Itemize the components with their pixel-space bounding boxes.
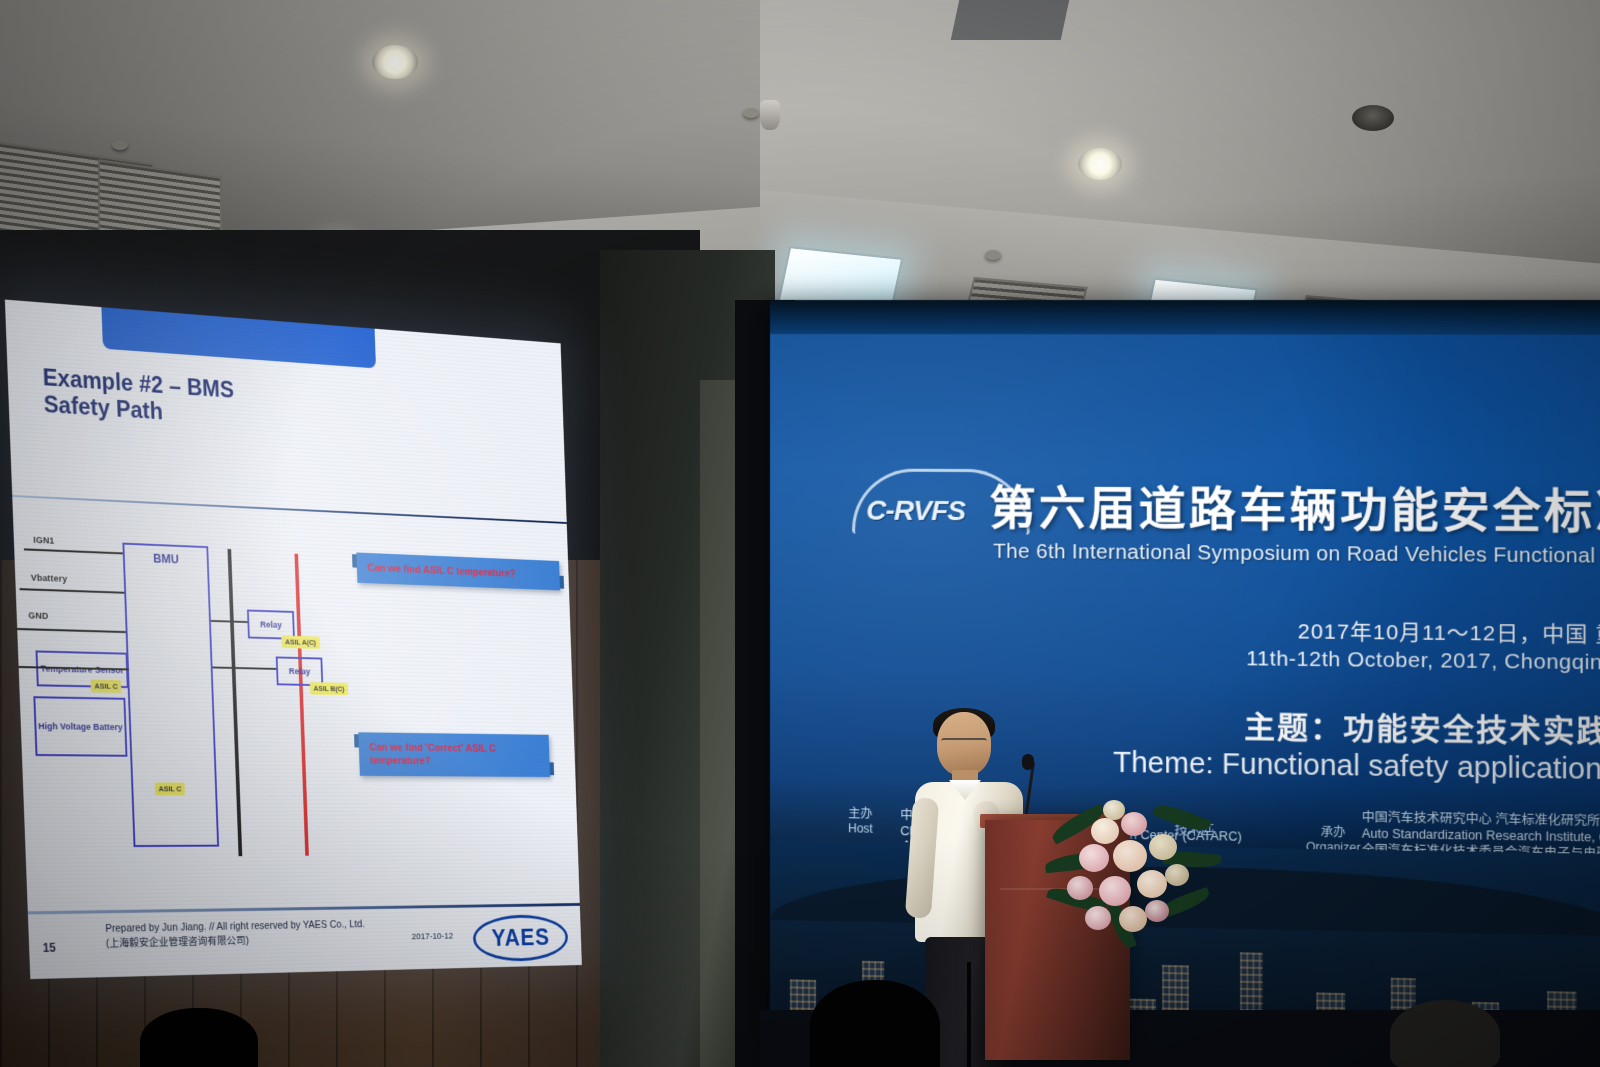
tag-relay-2-asil: ASIL B(C): [310, 682, 348, 695]
flower-bloom: [1099, 876, 1131, 906]
flower-leaf: [1152, 800, 1212, 837]
banner-organizer-label-cn: 承办: [1306, 825, 1360, 841]
slide-page-number: 15: [42, 941, 55, 955]
presenter-leg-split: [967, 962, 971, 1067]
signal-line-gnd: [17, 628, 127, 633]
banner-theme-en: Theme: Functional safety application: [1113, 747, 1600, 788]
flower-bloom: [1119, 906, 1147, 932]
banner-host-label-cn: 主办: [848, 806, 873, 821]
banner-host-label-en: Host: [848, 821, 873, 836]
flower-bloom: [1085, 906, 1111, 930]
sprinkler-head-left: [112, 140, 128, 150]
block-relay-2-label: Relay: [289, 666, 311, 676]
banner-host-label: 主办 Host: [848, 806, 873, 836]
slide-footer: 15 Prepared by Jun Jiang. // All right r…: [28, 909, 582, 980]
slide-title: Example #2 – BMS Safety Path: [42, 364, 461, 443]
audience-hair-silhouette: [1390, 1000, 1500, 1067]
block-bmu-label: BMU: [153, 552, 179, 567]
relay-2-feed-line: [213, 667, 279, 670]
banner-date-en: 11th-12th October, 2017, Chongqing, Chin…: [1246, 647, 1600, 676]
flower-bloom: [1149, 834, 1177, 860]
microphone-head: [1022, 754, 1034, 770]
flower-bloom: [1113, 840, 1147, 872]
flower-bloom: [1145, 900, 1169, 922]
flower-arrangement: [1045, 800, 1220, 975]
audience-head-silhouette: [810, 980, 940, 1067]
banner-title-cn: 第六届道路车辆功能安全标准及应用: [989, 471, 1600, 543]
audience-head-silhouette: [140, 1008, 258, 1067]
flower-bloom: [1165, 864, 1189, 886]
signal-label-vbattery: Vbattery: [31, 573, 68, 584]
projection-screen: Example #2 – BMS Safety Path IGN1 Vbatte…: [5, 300, 599, 999]
block-high-voltage-battery: High Voltage Battery: [33, 696, 127, 757]
conference-photo-scene: Example #2 – BMS Safety Path IGN1 Vbatte…: [0, 0, 1600, 1067]
smoke-detector: [1352, 105, 1394, 131]
block-bmu: BMU: [122, 543, 219, 847]
bms-safety-path-diagram: IGN1 Vbattery GND BMU ASIL C Temperature…: [13, 510, 580, 909]
callout-question-2: Can we find 'Correct' ASIL C temperature…: [358, 732, 550, 777]
c-rvfs-logo-text: C-RVFS: [866, 495, 965, 528]
sprinkler-head-mid: [985, 250, 1001, 260]
signal-bus-black: [227, 549, 242, 856]
signal-line-vbattery: [20, 588, 127, 594]
presentation-slide: Example #2 – BMS Safety Path IGN1 Vbatte…: [5, 300, 582, 980]
callout-question-1: Can we find ASIL C temperature?: [356, 552, 560, 590]
block-relay-1-label: Relay: [260, 620, 282, 630]
ceiling-spot-fixture: [760, 100, 780, 130]
signal-line-ign1: [24, 548, 125, 554]
downlight-1: [372, 45, 418, 79]
downlight-3: [1078, 148, 1122, 180]
banner-date-cn: 2017年10月11～12日，中国 重庆: [1298, 615, 1600, 649]
flower-bloom: [1121, 812, 1147, 836]
banner-top-edge: [770, 300, 1600, 335]
ceiling-panel-gap: [951, 0, 1070, 40]
slide-date: 2017-10-12: [411, 931, 453, 942]
flower-bloom: [1067, 876, 1093, 900]
sprinkler-head-center: [743, 108, 759, 118]
banner-theme-cn: 主题：功能安全技术实践应用: [1244, 702, 1600, 753]
flower-bloom: [1103, 800, 1125, 820]
signal-label-ign1: IGN1: [33, 535, 54, 546]
yaes-logo: YAES: [472, 914, 568, 962]
signal-label-gnd: GND: [28, 610, 48, 621]
tag-relay-1-asil: ASIL A(C): [281, 636, 319, 649]
tag-bmu-asil: ASIL C: [155, 782, 186, 795]
flower-bloom: [1079, 844, 1109, 872]
banner-title-en: The 6th International Symposium on Road …: [993, 540, 1600, 570]
presenter-glasses: [941, 738, 987, 751]
high-voltage-bus-red: [294, 554, 308, 856]
tag-temperature-sensor-asil: ASIL C: [90, 679, 121, 692]
flower-bloom: [1091, 818, 1119, 844]
block-high-voltage-battery-label: High Voltage Battery: [38, 721, 123, 733]
slide-copyright: Prepared by Jun Jiang. // All right rese…: [105, 918, 365, 952]
flower-bloom: [1137, 870, 1167, 898]
